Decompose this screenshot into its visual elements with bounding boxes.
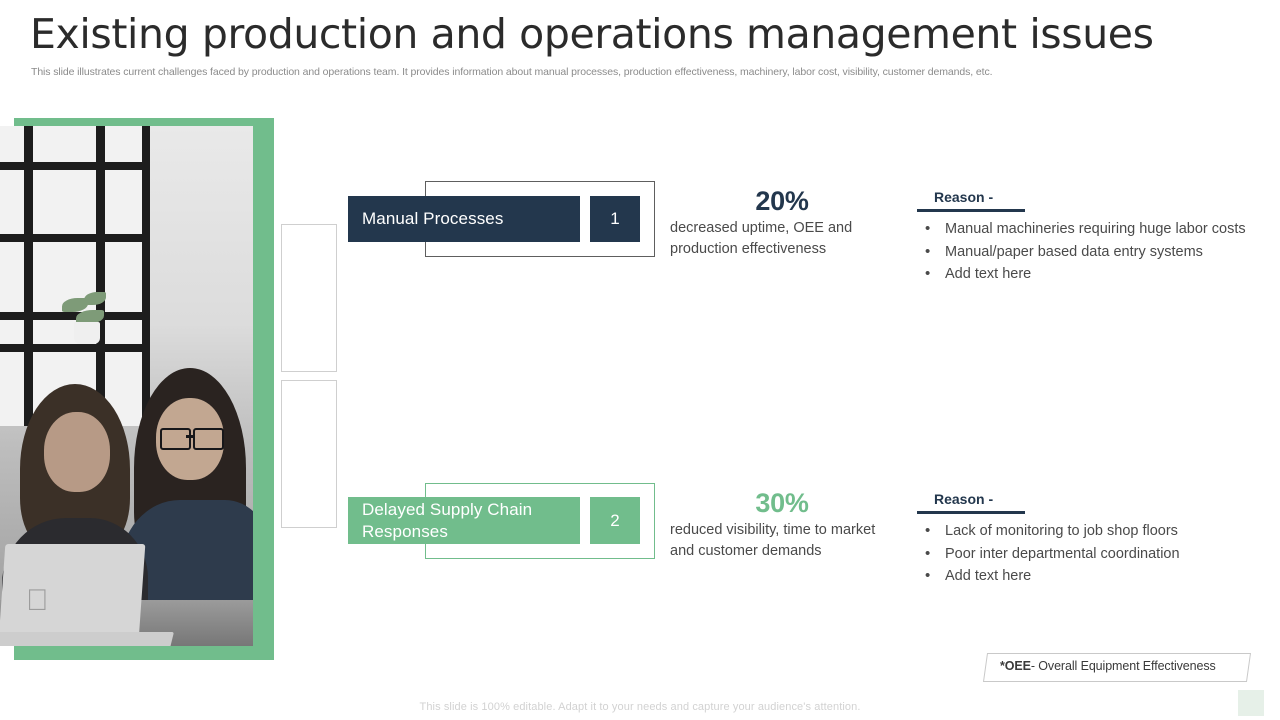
footnote-abbr: *OEE xyxy=(1000,659,1031,673)
row-2-reason-heading: Reason - xyxy=(934,491,993,507)
photo-laptop-base xyxy=(0,632,174,646)
row-1-number-box[interactable]: 1 xyxy=(590,196,640,242)
row-2-label-box[interactable]: Delayed Supply Chain Responses xyxy=(348,497,580,544)
list-item: Lack of monitoring to job shop floors xyxy=(917,520,1247,543)
row-1-reason-underline xyxy=(917,209,1025,212)
connector-upper-vertical-left xyxy=(281,224,282,372)
photo-window-mullion xyxy=(0,234,150,242)
row-2-number: 2 xyxy=(610,511,619,531)
connector-mid-upper xyxy=(281,371,337,372)
connector-lower-vertical-right xyxy=(336,380,337,528)
row-1-percent: 20% xyxy=(670,186,894,217)
connector-upper-vertical-right xyxy=(336,224,337,372)
list-item: Add text here xyxy=(917,565,1247,588)
row-2-reason-list: Lack of monitoring to job shop floors Po… xyxy=(917,520,1247,588)
list-item: Manual machineries requiring huge labor … xyxy=(917,218,1247,241)
photo-window-panel xyxy=(0,126,150,426)
row-1-description: decreased uptime, OEE and production eff… xyxy=(670,218,894,259)
row-2-description: reduced visibility, time to market and c… xyxy=(670,520,894,561)
connector-upper-left xyxy=(281,224,337,225)
row-1-label-box[interactable]: Manual Processes xyxy=(348,196,580,242)
list-item: Add text here xyxy=(917,263,1247,286)
photo-window-mullion xyxy=(0,162,150,170)
list-item: Manual/paper based data entry systems xyxy=(917,241,1247,264)
slide-footer: This slide is 100% editable. Adapt it to… xyxy=(0,701,1280,713)
photo-window-mullion xyxy=(96,126,105,426)
row-2-number-box[interactable]: 2 xyxy=(590,497,640,544)
row-1-number: 1 xyxy=(610,209,619,229)
footnote-text: *OEE- Overall Equipment Effectiveness xyxy=(1000,659,1250,673)
list-item: Poor inter departmental coordination xyxy=(917,543,1247,566)
photo-eyeglasses xyxy=(193,428,224,450)
photo-plant-pot xyxy=(74,322,100,344)
connector-lower-vertical-left xyxy=(281,380,282,528)
row-2-label: Delayed Supply Chain Responses xyxy=(362,499,580,543)
photo-person-left-face xyxy=(44,412,110,492)
row-2-reason-underline xyxy=(917,511,1025,514)
connector-mid-lower xyxy=(281,380,337,381)
page-title: Existing production and operations manag… xyxy=(30,12,1250,57)
row-2-percent: 30% xyxy=(670,488,894,519)
footnote-rest: - Overall Equipment Effectiveness xyxy=(1031,659,1216,673)
photo-window-mullion xyxy=(0,312,150,320)
photo-laptop-screen xyxy=(0,544,145,640)
row-1-reason-list: Manual machineries requiring huge labor … xyxy=(917,218,1247,286)
photo-window-mullion xyxy=(0,344,150,352)
row-1-reason-heading: Reason - xyxy=(934,189,993,205)
team-photo:  xyxy=(0,126,253,646)
row-1-label: Manual Processes xyxy=(362,208,503,230)
page-subtitle: This slide illustrates current challenge… xyxy=(31,66,1231,78)
apple-logo-icon:  xyxy=(26,586,52,616)
photo-eyeglasses-bridge xyxy=(186,435,194,438)
photo-eyeglasses xyxy=(160,428,191,450)
photo-window-mullion xyxy=(142,126,150,426)
corner-accent-square xyxy=(1238,690,1264,716)
connector-lower-left xyxy=(281,527,337,528)
photo-window-mullion xyxy=(24,126,33,426)
